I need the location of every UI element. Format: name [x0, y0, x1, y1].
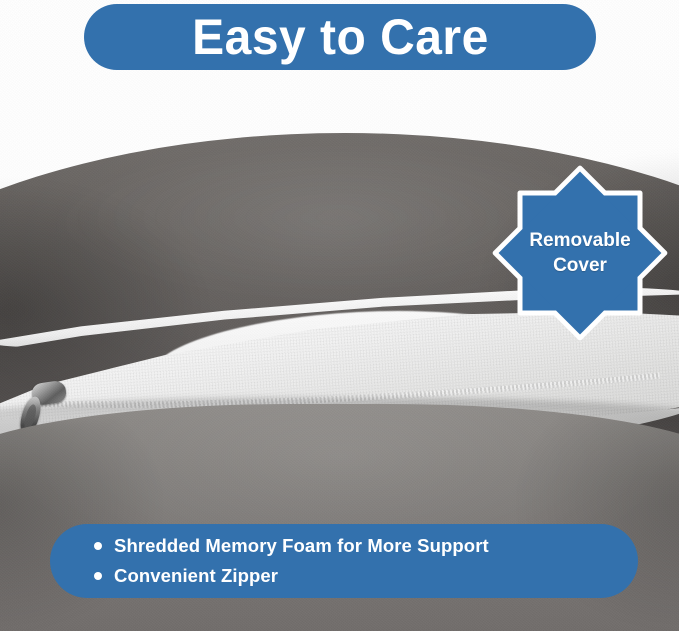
- feature-label-2: Convenient Zipper: [114, 567, 278, 586]
- bullet-icon: [94, 542, 102, 550]
- headline-banner: Easy to Care: [84, 4, 596, 70]
- list-item: Convenient Zipper: [94, 561, 638, 591]
- list-item: Shredded Memory Foam for More Support: [94, 531, 638, 561]
- removable-cover-badge: Removable Cover: [494, 177, 666, 329]
- page-title: Easy to Care: [192, 12, 489, 62]
- bullet-icon: [94, 572, 102, 580]
- product-feature-image: Easy to Care Removable Cover Shredded Me…: [0, 0, 679, 631]
- features-banner: Shredded Memory Foam for More Support Co…: [50, 524, 638, 598]
- eight-point-star-icon: [495, 168, 665, 338]
- feature-label-1: Shredded Memory Foam for More Support: [114, 537, 489, 556]
